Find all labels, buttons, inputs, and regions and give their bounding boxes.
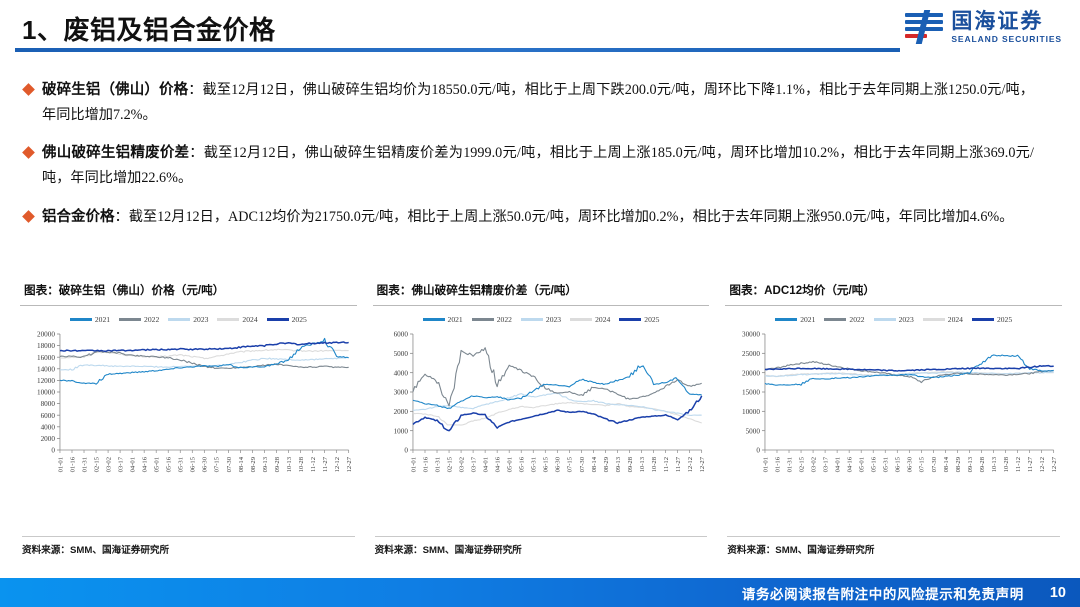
- legend-item-2023: 2023: [874, 315, 914, 324]
- svg-text:04-01: 04-01: [482, 457, 489, 472]
- svg-text:06-30: 06-30: [202, 456, 209, 472]
- legend-item-2023: 2023: [168, 315, 208, 324]
- svg-text:10-28: 10-28: [651, 456, 658, 472]
- svg-text:05-01: 05-01: [154, 457, 161, 472]
- svg-text:04-16: 04-16: [847, 456, 854, 472]
- legend-item-2025: 2025: [972, 315, 1012, 324]
- diamond-bullet-icon: [22, 210, 35, 223]
- svg-text:05-31: 05-31: [883, 457, 890, 472]
- legend-swatch-icon: [972, 318, 994, 320]
- legend-swatch-icon: [775, 318, 797, 320]
- svg-text:0: 0: [757, 447, 761, 455]
- bullet-item: 铝合金价格：截至12月12日，ADC12均价为21750.0元/吨，相比于上周上…: [24, 205, 1034, 230]
- svg-text:08-14: 08-14: [590, 456, 597, 472]
- chart-panel-2: 图表：佛山破碎生铝精废价差（元/吨） 20212022202320242025 …: [371, 276, 712, 558]
- bullet-text: 破碎生铝（佛山）价格：截至12月12日，佛山破碎生铝均价为18550.0元/吨，…: [42, 78, 1034, 127]
- svg-text:10-28: 10-28: [298, 456, 305, 472]
- legend-swatch-icon: [70, 318, 92, 320]
- svg-text:12-27: 12-27: [699, 456, 706, 472]
- slide-header: 1、废铝及铝合金价格 国海证券 SEALAND SECURITIES: [0, 0, 1080, 56]
- svg-text:12-27: 12-27: [346, 456, 353, 472]
- svg-text:01-31: 01-31: [787, 457, 794, 472]
- legend-item-2022: 2022: [472, 315, 512, 324]
- chart-plot-area: 0200040006000800010000120001400016000180…: [20, 328, 357, 504]
- logo-name-en: SEALAND SECURITIES: [951, 35, 1062, 44]
- svg-text:12-12: 12-12: [334, 457, 341, 472]
- svg-text:30000: 30000: [742, 331, 760, 339]
- page-title: 1、废铝及铝合金价格: [22, 10, 275, 47]
- header-divider: [15, 48, 900, 52]
- svg-text:3000: 3000: [393, 389, 408, 397]
- chart-panel-1: 图表：破碎生铝（佛山）价格（元/吨） 20212022202320242025 …: [18, 276, 359, 558]
- svg-text:25000: 25000: [742, 350, 760, 358]
- svg-text:07-15: 07-15: [919, 456, 926, 472]
- svg-text:09-28: 09-28: [979, 456, 986, 472]
- chart-title: 图表：佛山破碎生铝精废价差（元/吨）: [371, 276, 712, 305]
- svg-text:06-30: 06-30: [554, 456, 561, 472]
- svg-text:12000: 12000: [37, 377, 55, 385]
- svg-text:08-14: 08-14: [943, 456, 950, 472]
- svg-text:14000: 14000: [37, 365, 55, 373]
- svg-text:10-13: 10-13: [286, 456, 293, 472]
- legend-item-2021: 2021: [70, 315, 110, 324]
- footer-disclaimer: 请务必阅读报告附注中的风险提示和免责声明: [742, 583, 1024, 603]
- chart-panels: 图表：破碎生铝（佛山）价格（元/吨） 20212022202320242025 …: [18, 276, 1064, 558]
- legend-swatch-icon: [874, 318, 896, 320]
- bullet-lead: 佛山破碎生铝精废价差: [42, 145, 189, 161]
- svg-text:4000: 4000: [41, 423, 56, 431]
- chart-source: 资料来源：SMM、国海证券研究所: [375, 536, 708, 556]
- svg-text:01-01: 01-01: [763, 457, 770, 472]
- page-number: 10: [1050, 585, 1066, 601]
- chart-plot-area: 010002000300040005000600001-0101-1601-31…: [373, 328, 710, 504]
- svg-text:07-15: 07-15: [214, 456, 221, 472]
- svg-text:03-02: 03-02: [811, 457, 818, 472]
- svg-text:10-13: 10-13: [991, 456, 998, 472]
- svg-text:10000: 10000: [742, 408, 760, 416]
- svg-text:0: 0: [404, 447, 408, 455]
- svg-text:20000: 20000: [37, 331, 55, 339]
- svg-text:16000: 16000: [37, 354, 55, 362]
- svg-text:05-01: 05-01: [506, 457, 513, 472]
- svg-text:05-31: 05-31: [178, 457, 185, 472]
- svg-text:05-01: 05-01: [859, 457, 866, 472]
- legend-swatch-icon: [570, 318, 592, 320]
- svg-text:09-13: 09-13: [262, 456, 269, 472]
- bullet-detail: ：截至12月12日，ADC12均价为21750.0元/吨，相比于上周上涨50.0…: [115, 209, 1014, 225]
- legend-item-2021: 2021: [775, 315, 815, 324]
- svg-text:6000: 6000: [393, 331, 408, 339]
- svg-text:09-28: 09-28: [627, 456, 634, 472]
- legend-label: 2025: [644, 315, 659, 324]
- svg-text:11-27: 11-27: [322, 456, 329, 472]
- legend-label: 2024: [595, 315, 610, 324]
- svg-text:04-16: 04-16: [494, 456, 501, 472]
- legend-label: 2021: [800, 315, 815, 324]
- svg-text:08-29: 08-29: [955, 456, 962, 472]
- svg-text:09-28: 09-28: [274, 456, 281, 472]
- legend-item-2022: 2022: [119, 315, 159, 324]
- bullet-item: 破碎生铝（佛山）价格：截至12月12日，佛山破碎生铝均价为18550.0元/吨，…: [24, 78, 1034, 127]
- svg-text:12-27: 12-27: [1051, 456, 1058, 472]
- svg-text:03-17: 03-17: [823, 456, 830, 472]
- bullet-list: 破碎生铝（佛山）价格：截至12月12日，佛山破碎生铝均价为18550.0元/吨，…: [24, 78, 1034, 244]
- svg-text:08-29: 08-29: [250, 456, 257, 472]
- svg-text:11-12: 11-12: [310, 457, 317, 472]
- legend-item-2024: 2024: [217, 315, 257, 324]
- svg-text:12-12: 12-12: [1039, 457, 1046, 472]
- chart-source: 资料来源：SMM、国海证券研究所: [22, 536, 355, 556]
- legend-item-2025: 2025: [267, 315, 307, 324]
- legend-item-2021: 2021: [423, 315, 463, 324]
- chart-panel-3: 图表：ADC12均价（元/吨） 20212022202320242025 050…: [723, 276, 1064, 558]
- chart-legend: 20212022202320242025: [723, 306, 1064, 328]
- svg-text:02-15: 02-15: [799, 456, 806, 472]
- legend-label: 2022: [849, 315, 864, 324]
- diamond-bullet-icon: [22, 146, 35, 159]
- legend-item-2024: 2024: [570, 315, 610, 324]
- diamond-bullet-icon: [22, 83, 35, 96]
- slide-footer: 请务必阅读报告附注中的风险提示和免责声明 10: [0, 578, 1080, 607]
- svg-text:2000: 2000: [393, 408, 408, 416]
- svg-text:11-27: 11-27: [675, 456, 682, 472]
- chart-legend: 20212022202320242025: [18, 306, 359, 328]
- svg-text:02-15: 02-15: [446, 456, 453, 472]
- legend-item-2025: 2025: [619, 315, 659, 324]
- bullet-detail: ：截至12月12日，佛山破碎生铝均价为18550.0元/吨，相比于上周下跌200…: [42, 82, 1034, 123]
- svg-text:03-02: 03-02: [105, 457, 112, 472]
- svg-text:2000: 2000: [41, 435, 56, 443]
- chart-legend: 20212022202320242025: [371, 306, 712, 328]
- legend-swatch-icon: [423, 318, 445, 320]
- svg-text:8000: 8000: [41, 400, 56, 408]
- svg-text:4000: 4000: [393, 369, 408, 377]
- svg-text:06-15: 06-15: [542, 456, 549, 472]
- svg-text:15000: 15000: [742, 389, 760, 397]
- svg-text:10-13: 10-13: [639, 456, 646, 472]
- bullet-detail: ：截至12月12日，佛山破碎生铝精废价差为1999.0元/吨，相比于上周上涨18…: [42, 145, 1034, 186]
- legend-label: 2023: [899, 315, 914, 324]
- svg-text:05-16: 05-16: [518, 456, 525, 472]
- svg-text:07-15: 07-15: [566, 456, 573, 472]
- svg-text:11-27: 11-27: [1027, 456, 1034, 472]
- svg-text:20000: 20000: [742, 369, 760, 377]
- svg-text:07-30: 07-30: [931, 456, 938, 472]
- svg-text:07-30: 07-30: [578, 456, 585, 472]
- legend-swatch-icon: [168, 318, 190, 320]
- svg-text:01-31: 01-31: [434, 457, 441, 472]
- svg-text:11-12: 11-12: [663, 457, 670, 472]
- svg-text:11-12: 11-12: [1015, 457, 1022, 472]
- svg-text:06-15: 06-15: [895, 456, 902, 472]
- svg-text:10-28: 10-28: [1003, 456, 1010, 472]
- bullet-item: 佛山破碎生铝精废价差：截至12月12日，佛山破碎生铝精废价差为1999.0元/吨…: [24, 141, 1034, 190]
- svg-text:04-01: 04-01: [130, 457, 137, 472]
- legend-label: 2021: [448, 315, 463, 324]
- svg-text:09-13: 09-13: [615, 456, 622, 472]
- legend-label: 2022: [144, 315, 159, 324]
- svg-text:03-17: 03-17: [470, 456, 477, 472]
- brand-logo: 国海证券 SEALAND SECURITIES: [905, 8, 1062, 46]
- bullet-lead: 破碎生铝（佛山）价格: [42, 82, 188, 98]
- svg-text:0: 0: [51, 447, 55, 455]
- svg-text:5000: 5000: [746, 427, 761, 435]
- svg-text:09-13: 09-13: [967, 456, 974, 472]
- svg-text:02-15: 02-15: [93, 456, 100, 472]
- legend-label: 2023: [546, 315, 561, 324]
- legend-swatch-icon: [472, 318, 494, 320]
- logo-text: 国海证券 SEALAND SECURITIES: [951, 11, 1062, 44]
- legend-swatch-icon: [521, 318, 543, 320]
- svg-text:01-16: 01-16: [422, 456, 429, 472]
- chart-source: 资料来源：SMM、国海证券研究所: [727, 536, 1060, 556]
- bullet-text: 铝合金价格：截至12月12日，ADC12均价为21750.0元/吨，相比于上周上…: [42, 205, 1013, 230]
- svg-text:07-30: 07-30: [226, 456, 233, 472]
- logo-name-cn: 国海证券: [951, 11, 1062, 32]
- legend-swatch-icon: [119, 318, 141, 320]
- legend-label: 2024: [242, 315, 257, 324]
- svg-text:12-12: 12-12: [687, 457, 694, 472]
- svg-text:01-16: 01-16: [69, 456, 76, 472]
- legend-label: 2025: [997, 315, 1012, 324]
- legend-swatch-icon: [824, 318, 846, 320]
- chart-title: 图表：破碎生铝（佛山）价格（元/吨）: [18, 276, 359, 305]
- svg-text:10000: 10000: [37, 389, 55, 397]
- svg-text:04-16: 04-16: [142, 456, 149, 472]
- slide-root: 1、废铝及铝合金价格 国海证券 SEALAND SECURITIES 破碎生铝（…: [0, 0, 1080, 607]
- svg-text:05-16: 05-16: [871, 456, 878, 472]
- chart-title: 图表：ADC12均价（元/吨）: [723, 276, 1064, 305]
- svg-text:01-01: 01-01: [410, 457, 417, 472]
- legend-swatch-icon: [923, 318, 945, 320]
- bullet-text: 佛山破碎生铝精废价差：截至12月12日，佛山破碎生铝精废价差为1999.0元/吨…: [42, 141, 1034, 190]
- legend-item-2024: 2024: [923, 315, 963, 324]
- svg-text:03-17: 03-17: [118, 456, 125, 472]
- legend-item-2023: 2023: [521, 315, 561, 324]
- svg-text:18000: 18000: [37, 342, 55, 350]
- sealand-logo-icon: [905, 8, 943, 46]
- legend-label: 2023: [193, 315, 208, 324]
- legend-swatch-icon: [619, 318, 641, 320]
- svg-text:6000: 6000: [41, 412, 56, 420]
- svg-text:01-31: 01-31: [81, 457, 88, 472]
- bullet-lead: 铝合金价格: [42, 209, 115, 225]
- legend-label: 2025: [292, 315, 307, 324]
- legend-swatch-icon: [267, 318, 289, 320]
- svg-text:08-14: 08-14: [238, 456, 245, 472]
- svg-text:1000: 1000: [393, 427, 408, 435]
- svg-text:01-01: 01-01: [57, 457, 64, 472]
- svg-text:04-01: 04-01: [835, 457, 842, 472]
- svg-text:05-16: 05-16: [166, 456, 173, 472]
- legend-label: 2022: [497, 315, 512, 324]
- svg-text:01-16: 01-16: [775, 456, 782, 472]
- legend-label: 2021: [95, 315, 110, 324]
- svg-text:05-31: 05-31: [530, 457, 537, 472]
- svg-text:08-29: 08-29: [603, 456, 610, 472]
- legend-item-2022: 2022: [824, 315, 864, 324]
- chart-plot-area: 05000100001500020000250003000001-0101-16…: [725, 328, 1062, 504]
- legend-label: 2024: [948, 315, 963, 324]
- svg-text:5000: 5000: [393, 350, 408, 358]
- svg-text:06-30: 06-30: [907, 456, 914, 472]
- legend-swatch-icon: [217, 318, 239, 320]
- svg-text:03-02: 03-02: [458, 457, 465, 472]
- svg-text:06-15: 06-15: [190, 456, 197, 472]
